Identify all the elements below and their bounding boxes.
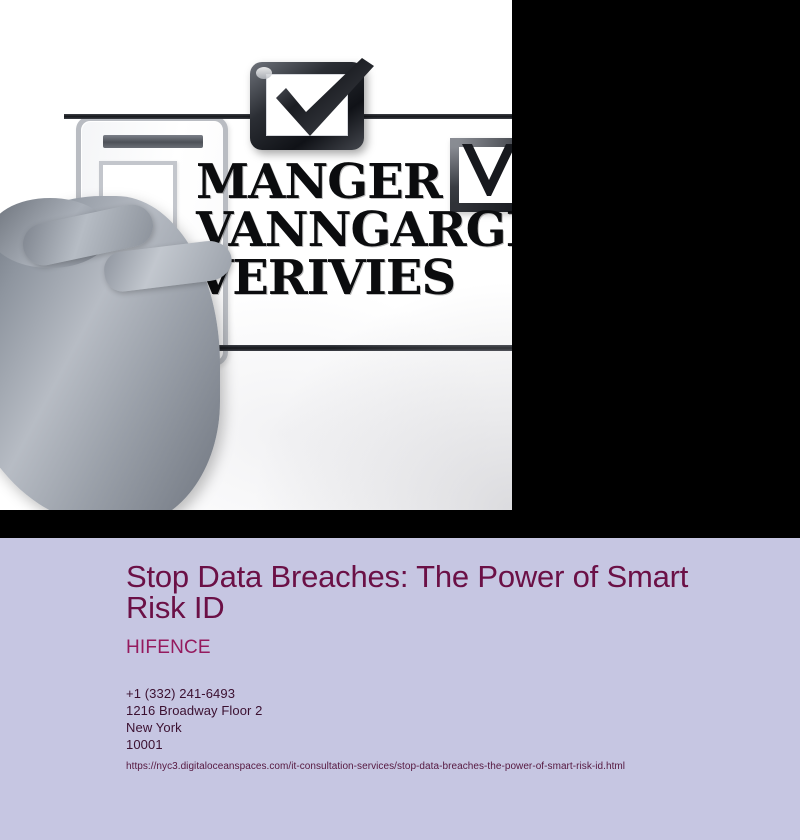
brand-name: HIFENCE [126,638,766,657]
checkbox-checked-large-icon [250,62,364,150]
contact-street: 1216 Broadway Floor 2 [126,702,766,719]
hero-media-band: MANGER VANNGARGES VERIVIES [0,0,800,538]
photo-headline-line-1: MANGER [196,158,512,206]
check-mark-icon [270,54,378,150]
clipboard-clip-icon [103,135,203,148]
photo-headline-line-2: VANNGARGES [196,206,512,254]
contact-postal-code: 10001 [126,736,766,753]
photo-headline-line-3: VERIVIES [196,254,512,302]
photo-headline-text: MANGER VANNGARGES VERIVIES [196,158,512,302]
contact-city: New York [126,719,766,736]
source-url-link[interactable]: https://nyc3.digitaloceanspaces.com/it-c… [126,760,766,773]
page-title: Stop Data Breaches: The Power of Smart R… [126,561,741,623]
contact-details-list: +1 (332) 241-6493 1216 Broadway Floor 2 … [126,685,766,753]
photo-vignette [252,280,512,510]
page-root: MANGER VANNGARGES VERIVIES Stop Data Bre… [0,0,800,840]
info-panel: Stop Data Breaches: The Power of Smart R… [0,538,800,840]
info-content: Stop Data Breaches: The Power of Smart R… [126,561,766,773]
hero-photograph: MANGER VANNGARGES VERIVIES [0,0,512,510]
contact-phone: +1 (332) 241-6493 [126,685,766,702]
